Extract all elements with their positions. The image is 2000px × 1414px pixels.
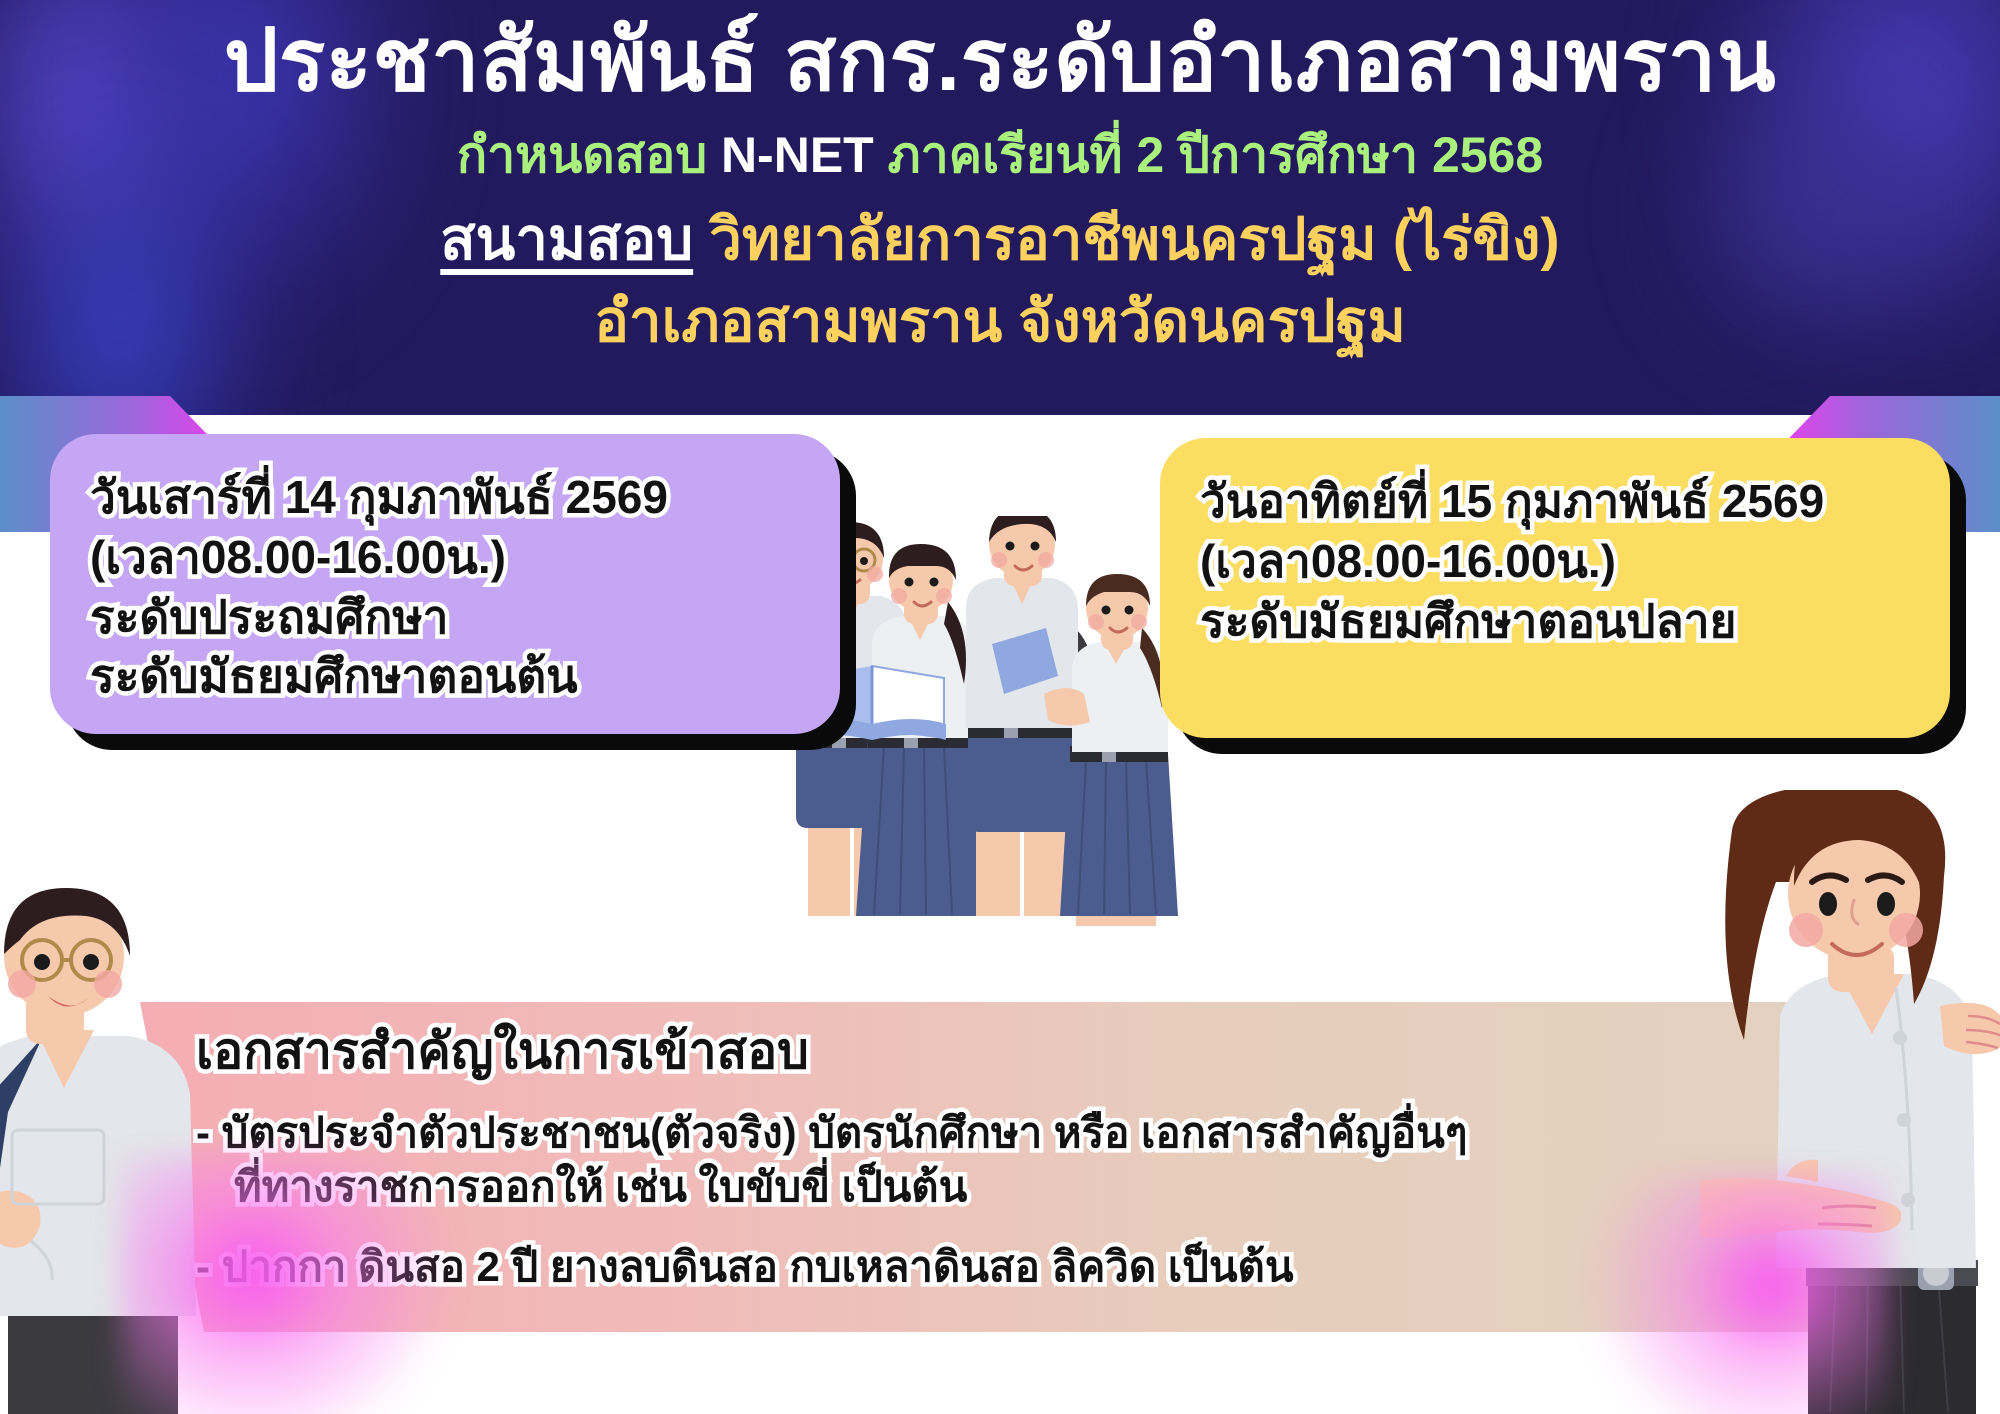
exam-schedule-suffix: ภาคเรียนที่ 2 ปีการศึกษา 2568	[874, 127, 1543, 183]
left-card-level-lower-sec: ระดับมัธยมศึกษาตอนต้น	[90, 647, 800, 707]
documents-bullet-1-line2: ที่ทางราชการออกให้ เช่น ใบขับขี่ เป็นต้น	[196, 1160, 1467, 1214]
venue-line: สนามสอบ วิทยาลัยการอาชีพนครปฐม (ไร่ขิง)	[0, 208, 2000, 272]
venue-name: วิทยาลัยการอาชีพนครปฐม (ไร่ขิง)	[693, 207, 1560, 272]
documents-bullet-2: - ปากกา ดินสอ 2 ปี ยางลบดินสอ กบเหลาดินส…	[196, 1240, 1294, 1294]
documents-bullet-1: - บัตรประจำตัวประชาชน(ตัวจริง) บัตรนักศึ…	[196, 1106, 1467, 1214]
students-group-illustration	[776, 516, 1216, 996]
poster-header: ประชาสัมพันธ์ สกร.ระดับอำเภอสามพราน กำหน…	[0, 0, 2000, 415]
poster-canvas: ประชาสัมพันธ์ สกร.ระดับอำเภอสามพราน กำหน…	[0, 0, 2000, 1414]
documents-bullet-1-line1: - บัตรประจำตัวประชาชน(ตัวจริง) บัตรนักศึ…	[196, 1109, 1467, 1156]
left-card-date: วันเสาร์ที่ 14 กุมภาพันธ์ 2569	[90, 468, 800, 528]
right-card-level-upper-sec: ระดับมัธยมศึกษาตอนปลาย	[1200, 592, 1910, 652]
exam-schedule-prefix: กำหนดสอบ	[457, 127, 721, 183]
exam-date-card-right: วันอาทิตย์ที่ 15 กุมภาพันธ์ 2569 (เวลา08…	[1160, 438, 1950, 738]
poster-title: ประชาสัมพันธ์ สกร.ระดับอำเภอสามพราน	[0, 16, 2000, 106]
exam-name: N-NET	[721, 127, 874, 183]
left-card-time: (เวลา08.00-16.00น.)	[90, 528, 800, 588]
documents-heading: เอกสารสำคัญในการเข้าสอบ	[196, 1012, 809, 1091]
right-card-time: (เวลา08.00-16.00น.)	[1200, 532, 1910, 592]
exam-date-card-left: วันเสาร์ที่ 14 กุมภาพันธ์ 2569 (เวลา08.0…	[50, 434, 840, 734]
teacher-illustration	[0, 880, 280, 1414]
exam-schedule-line: กำหนดสอบ N-NET ภาคเรียนที่ 2 ปีการศึกษา …	[0, 128, 2000, 183]
venue-label: สนามสอบ	[440, 207, 693, 272]
venue-place: อำเภอสามพราน จังหวัดนครปฐม	[0, 290, 2000, 354]
female-student-pointing-illustration	[1700, 790, 2000, 1414]
left-card-level-primary: ระดับประถมศึกษา	[90, 588, 800, 648]
right-card-date: วันอาทิตย์ที่ 15 กุมภาพันธ์ 2569	[1200, 472, 1910, 532]
